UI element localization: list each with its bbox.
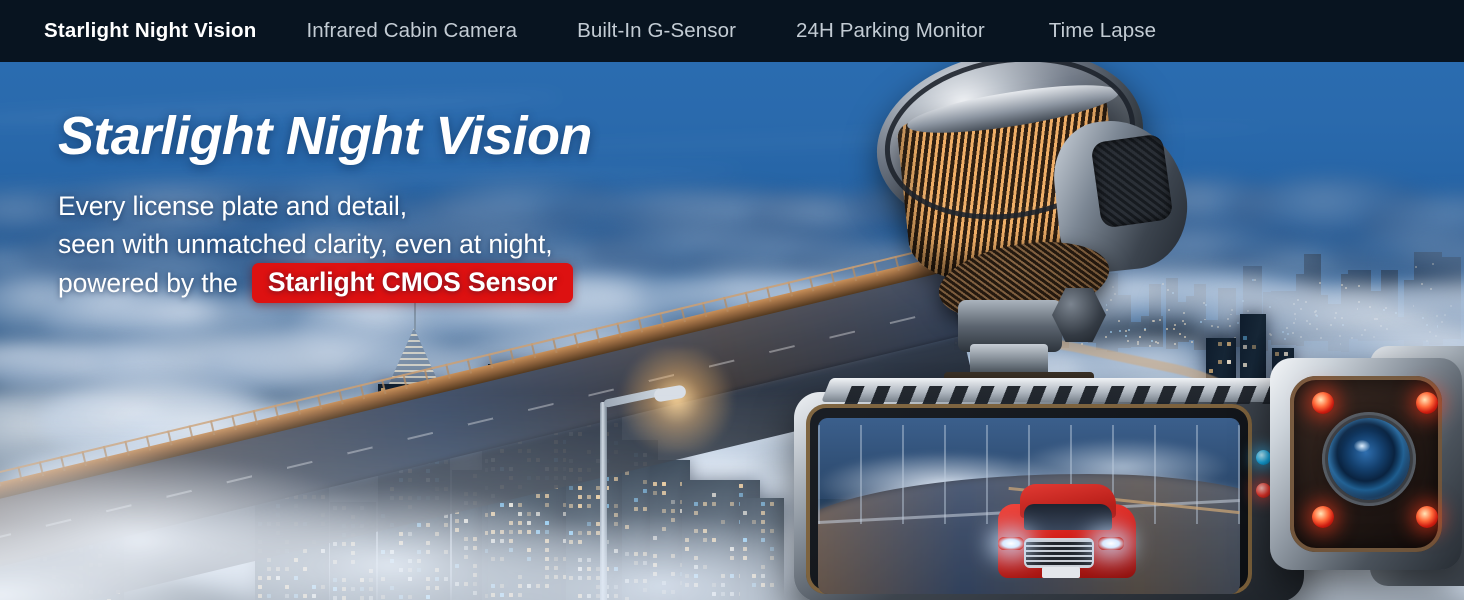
feature-tab-bar: Starlight Night Vision Infrared Cabin Ca…: [0, 0, 1464, 62]
suv-grille: [1024, 538, 1094, 568]
tab-time-lapse[interactable]: Time Lapse: [1049, 19, 1156, 43]
suv-headlight-right: [1098, 537, 1124, 550]
tab-starlight-night-vision[interactable]: Starlight Night Vision: [44, 19, 256, 43]
page-title: Starlight Night Vision: [58, 109, 760, 163]
dashcam-vents: [844, 386, 1181, 404]
tab-infrared-cabin-camera[interactable]: Infrared Cabin Camera: [306, 19, 517, 43]
dashcam-device: [756, 0, 1464, 600]
starlight-cmos-sensor-badge: Starlight CMOS Sensor: [252, 263, 573, 303]
subtitle-line-1: Every license plate and detail,: [58, 187, 760, 225]
status-led-blue: [1256, 450, 1271, 465]
suv-windshield: [1024, 504, 1112, 530]
camera-lens: [1328, 418, 1410, 500]
suv-license-plate: [1042, 567, 1080, 578]
ir-led: [1312, 392, 1334, 414]
suv-headlight-left: [998, 537, 1024, 550]
tab-24h-parking-monitor[interactable]: 24H Parking Monitor: [796, 19, 985, 43]
dashcam-screen: [818, 418, 1240, 594]
subtitle-line-3-prefix: powered by the: [58, 264, 238, 302]
tab-built-in-g-sensor[interactable]: Built-In G-Sensor: [577, 19, 736, 43]
status-led-red: [1256, 483, 1271, 498]
mount-carbon-pad: [1090, 133, 1173, 228]
subtitle-line-2: seen with unmatched clarity, even at nig…: [58, 225, 760, 263]
camera-lens-highlight: [1354, 440, 1370, 452]
ir-led: [1312, 506, 1334, 528]
product-feature-banner: Starlight Night Vision Infrared Cabin Ca…: [0, 0, 1464, 600]
subtitle-line-3: powered by the Starlight CMOS Sensor: [58, 263, 760, 303]
ir-led: [1416, 506, 1438, 528]
hero-copy: Starlight Night Vision Every license pla…: [0, 62, 760, 303]
nav-items: Starlight Night Vision Infrared Cabin Ca…: [0, 19, 1464, 43]
red-suv: [994, 484, 1140, 588]
ir-led: [1416, 392, 1438, 414]
